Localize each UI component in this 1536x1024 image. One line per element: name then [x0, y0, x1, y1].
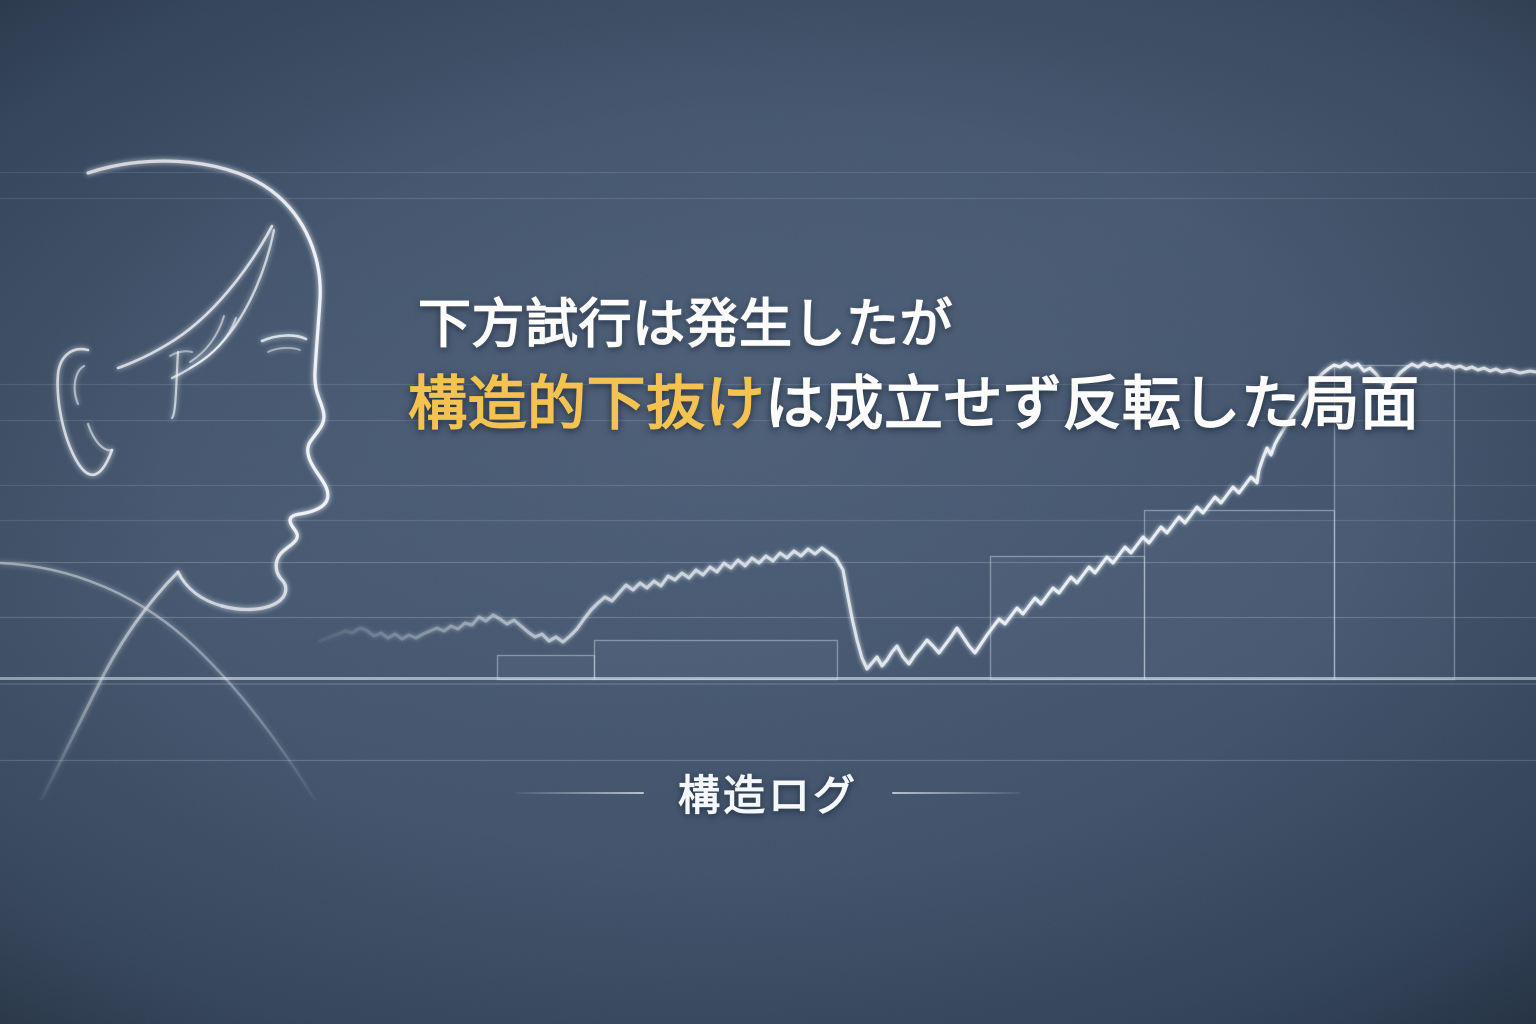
footer-rule-left — [516, 792, 644, 794]
hair-sweep-1 — [118, 226, 272, 368]
head-profile-illustration — [0, 0, 1536, 1024]
ear-outline — [58, 349, 112, 475]
headline-line-2: 構造的下抜けは成立せず反転した局面 — [408, 375, 1368, 434]
headline-block: 下方試行は発生したが 構造的下抜けは成立せず反転した局面 — [408, 298, 1368, 434]
hair-sideburn — [172, 352, 178, 418]
headline-line-1: 下方試行は発生したが — [418, 298, 1368, 351]
hair-part-line — [170, 351, 192, 356]
footer-caption: 構造ログ — [0, 762, 1536, 823]
hair-sweep-3 — [190, 318, 236, 368]
headline-rest-text: は成立せず反転した局面 — [765, 371, 1420, 437]
ear-lobe — [88, 424, 112, 450]
eye-hint — [268, 348, 300, 352]
footer-rule-right — [892, 792, 1020, 794]
ear-inner — [75, 366, 84, 404]
hair-sweep-2 — [172, 230, 274, 378]
headline-highlight-text: 構造的下抜け — [408, 371, 765, 437]
jaw-neck-path — [178, 572, 222, 606]
head-outline-path — [88, 161, 328, 609]
brow-line — [262, 335, 306, 341]
poster-canvas: 下方試行は発生したが 構造的下抜けは成立せず反転した局面 構造ログ — [0, 0, 1536, 1024]
footer-label: 構造ログ — [678, 762, 858, 823]
